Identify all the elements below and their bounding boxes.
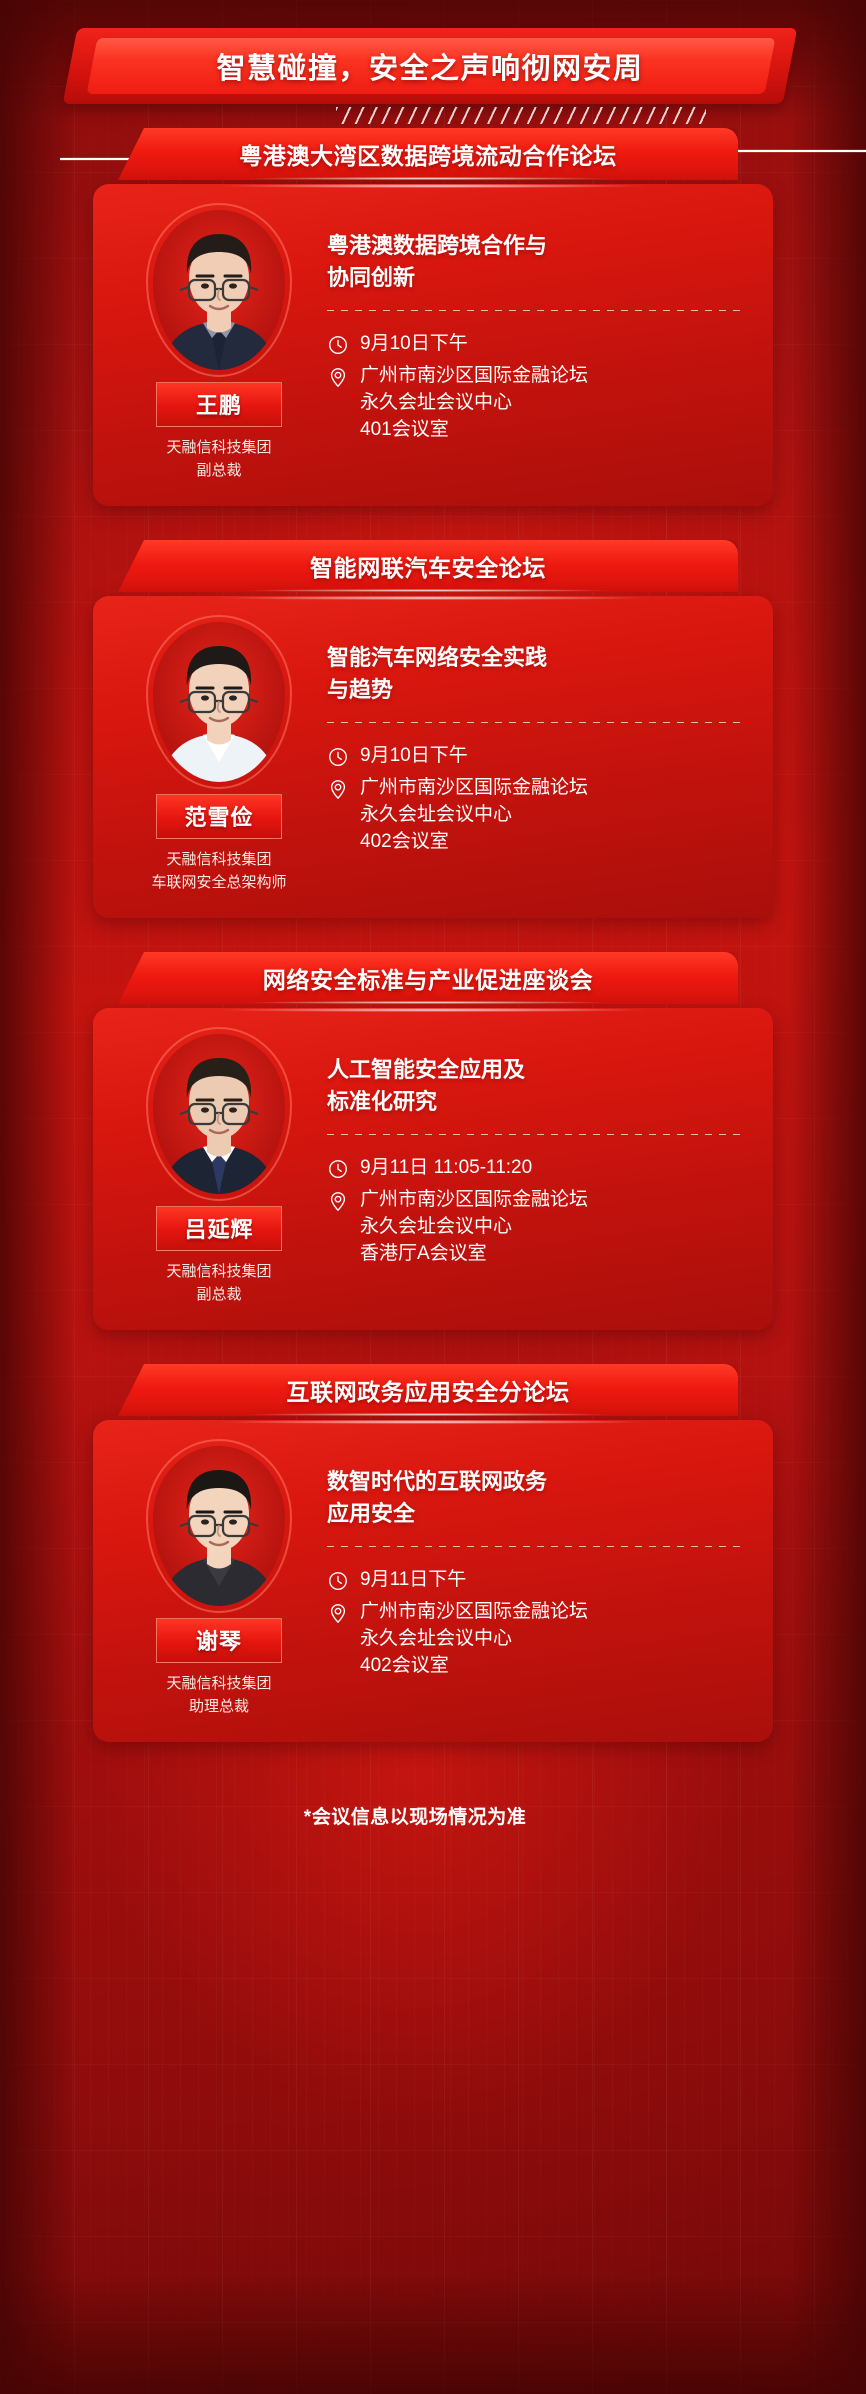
location-line: 永久会址会议中心 [360, 390, 588, 417]
forum-title: 智能网联汽车安全论坛 [118, 540, 738, 592]
speaker-column: 王鹏天融信科技集团副总裁 [111, 204, 327, 482]
location-text: 广州市南沙区国际金融论坛永久会址会议中心402会议室 [360, 1599, 588, 1680]
topic-line: 应用安全 [327, 1498, 747, 1530]
location-pin-icon [327, 1602, 349, 1624]
clock-icon [327, 334, 349, 356]
dashed-divider [327, 310, 747, 311]
session-block: 粤港澳大湾区数据跨境流动合作论坛王鹏天融信科技集团副总裁粤港澳数据跨境合作与协同… [0, 128, 866, 540]
location-row: 广州市南沙区国际金融论坛永久会址会议中心402会议室 [327, 775, 747, 856]
topic-line: 粤港澳数据跨境合作与 [327, 230, 747, 262]
org-line: 天融信科技集团 [166, 437, 271, 460]
session-card: 吕延辉天融信科技集团副总裁人工智能安全应用及标准化研究9月11日 11:05-1… [93, 1008, 773, 1330]
speaker-column: 谢琴天融信科技集团助理总裁 [111, 1440, 327, 1718]
speaker-name: 王鹏 [156, 382, 282, 427]
org-line: 天融信科技集团 [151, 849, 286, 872]
dashed-divider [327, 1546, 747, 1547]
speaker-organization: 天融信科技集团副总裁 [166, 1261, 271, 1306]
topic-line: 标准化研究 [327, 1086, 747, 1118]
org-line: 副总裁 [166, 1284, 271, 1307]
time-text: 9月10日下午 [360, 331, 468, 358]
topic-line: 人工智能安全应用及 [327, 1054, 747, 1086]
session-details: 数智时代的互联网政务应用安全9月11日下午广州市南沙区国际金融论坛永久会址会议中… [327, 1440, 747, 1718]
time-row: 9月10日下午 [327, 331, 747, 358]
footnote: *会议信息以现场情况为准 [0, 1802, 866, 1829]
time-row: 9月10日下午 [327, 743, 747, 770]
org-line: 天融信科技集团 [166, 1261, 271, 1284]
session-details: 粤港澳数据跨境合作与协同创新9月10日下午广州市南沙区国际金融论坛永久会址会议中… [327, 204, 747, 482]
session-card: 范雪俭天融信科技集团车联网安全总架构师智能汽车网络安全实践与趋势9月10日下午广… [93, 596, 773, 918]
org-line: 助理总裁 [166, 1696, 271, 1719]
forum-tab[interactable]: 粤港澳大湾区数据跨境流动合作论坛 [0, 128, 866, 184]
location-line: 广州市南沙区国际金融论坛 [360, 775, 588, 802]
location-line: 永久会址会议中心 [360, 1214, 588, 1241]
speaker-organization: 天融信科技集团车联网安全总架构师 [151, 849, 286, 894]
forum-title: 互联网政务应用安全分论坛 [118, 1364, 738, 1416]
forum-tab[interactable]: 网络安全标准与产业促进座谈会 [0, 952, 866, 1008]
speaker-name: 吕延辉 [156, 1206, 282, 1251]
speaker-photo-frame [153, 1446, 285, 1606]
session-card: 谢琴天融信科技集团助理总裁数智时代的互联网政务应用安全9月11日下午广州市南沙区… [93, 1420, 773, 1742]
speaker-photo-frame [153, 210, 285, 370]
topic-line: 协同创新 [327, 262, 747, 294]
dashed-divider [327, 722, 747, 723]
session-block: 智能网联汽车安全论坛范雪俭天融信科技集团车联网安全总架构师智能汽车网络安全实践与… [0, 540, 866, 952]
session-spacer [0, 918, 866, 952]
speaker-organization: 天融信科技集团副总裁 [166, 437, 271, 482]
topic-line: 智能汽车网络安全实践 [327, 642, 747, 674]
banner-title: 智慧碰撞，安全之声响彻网安周 [70, 38, 790, 94]
location-line: 广州市南沙区国际金融论坛 [360, 363, 588, 390]
speaker-organization: 天融信科技集团助理总裁 [166, 1673, 271, 1718]
location-line: 永久会址会议中心 [360, 1626, 588, 1653]
location-text: 广州市南沙区国际金融论坛永久会址会议中心香港厅A会议室 [360, 1187, 588, 1268]
speaker-name: 范雪俭 [156, 794, 282, 839]
topic-line: 数智时代的互联网政务 [327, 1466, 747, 1498]
poster-page: 智慧碰撞，安全之声响彻网安周 粤港澳大湾区数据跨境流动合作论坛王鹏天融信科技集团… [0, 0, 866, 1829]
session-details: 智能汽车网络安全实践与趋势9月10日下午广州市南沙区国际金融论坛永久会址会议中心… [327, 616, 747, 894]
time-text: 9月10日下午 [360, 743, 468, 770]
location-row: 广州市南沙区国际金融论坛永久会址会议中心401会议室 [327, 363, 747, 444]
location-pin-icon [327, 366, 349, 388]
session-details: 人工智能安全应用及标准化研究9月11日 11:05-11:20广州市南沙区国际金… [327, 1028, 747, 1306]
location-line: 广州市南沙区国际金融论坛 [360, 1599, 588, 1626]
time-text: 9月11日下午 [360, 1567, 466, 1594]
session-spacer [0, 1742, 866, 1768]
dashed-divider [327, 1134, 747, 1135]
location-line: 香港厅A会议室 [360, 1241, 588, 1268]
forum-title: 粤港澳大湾区数据跨境流动合作论坛 [118, 128, 738, 180]
location-pin-icon [327, 1190, 349, 1212]
clock-icon [327, 1158, 349, 1180]
speaker-column: 吕延辉天融信科技集团副总裁 [111, 1028, 327, 1306]
session-topic: 数智时代的互联网政务应用安全 [327, 1466, 747, 1530]
location-line: 永久会址会议中心 [360, 802, 588, 829]
speaker-name: 谢琴 [156, 1618, 282, 1663]
org-line: 副总裁 [166, 460, 271, 483]
speaker-photo-frame [153, 622, 285, 782]
hatch-decoration-icon [336, 107, 706, 124]
session-list: 粤港澳大湾区数据跨境流动合作论坛王鹏天融信科技集团副总裁粤港澳数据跨境合作与协同… [0, 128, 866, 1768]
time-text: 9月11日 11:05-11:20 [360, 1155, 532, 1182]
clock-icon [327, 1570, 349, 1592]
location-line: 402会议室 [360, 829, 588, 856]
forum-tab[interactable]: 互联网政务应用安全分论坛 [0, 1364, 866, 1420]
location-row: 广州市南沙区国际金融论坛永久会址会议中心香港厅A会议室 [327, 1187, 747, 1268]
time-row: 9月11日 11:05-11:20 [327, 1155, 747, 1182]
speaker-photo-frame [153, 1034, 285, 1194]
forum-title: 网络安全标准与产业促进座谈会 [118, 952, 738, 1004]
location-line: 402会议室 [360, 1653, 588, 1680]
session-spacer [0, 506, 866, 540]
topic-line: 与趋势 [327, 674, 747, 706]
org-line: 天融信科技集团 [166, 1673, 271, 1696]
clock-icon [327, 746, 349, 768]
location-row: 广州市南沙区国际金融论坛永久会址会议中心402会议室 [327, 1599, 747, 1680]
time-row: 9月11日下午 [327, 1567, 747, 1594]
location-text: 广州市南沙区国际金融论坛永久会址会议中心401会议室 [360, 363, 588, 444]
session-block: 网络安全标准与产业促进座谈会吕延辉天融信科技集团副总裁人工智能安全应用及标准化研… [0, 952, 866, 1364]
location-line: 401会议室 [360, 417, 588, 444]
session-topic: 粤港澳数据跨境合作与协同创新 [327, 230, 747, 294]
location-line: 广州市南沙区国际金融论坛 [360, 1187, 588, 1214]
forum-tab[interactable]: 智能网联汽车安全论坛 [0, 540, 866, 596]
location-text: 广州市南沙区国际金融论坛永久会址会议中心402会议室 [360, 775, 588, 856]
session-block: 互联网政务应用安全分论坛谢琴天融信科技集团助理总裁数智时代的互联网政务应用安全9… [0, 1364, 866, 1768]
speaker-column: 范雪俭天融信科技集团车联网安全总架构师 [111, 616, 327, 894]
org-line: 车联网安全总架构师 [151, 872, 286, 895]
session-topic: 智能汽车网络安全实践与趋势 [327, 642, 747, 706]
session-card: 王鹏天融信科技集团副总裁粤港澳数据跨境合作与协同创新9月10日下午广州市南沙区国… [93, 184, 773, 506]
location-pin-icon [327, 778, 349, 800]
session-spacer [0, 1330, 866, 1364]
session-topic: 人工智能安全应用及标准化研究 [327, 1054, 747, 1118]
